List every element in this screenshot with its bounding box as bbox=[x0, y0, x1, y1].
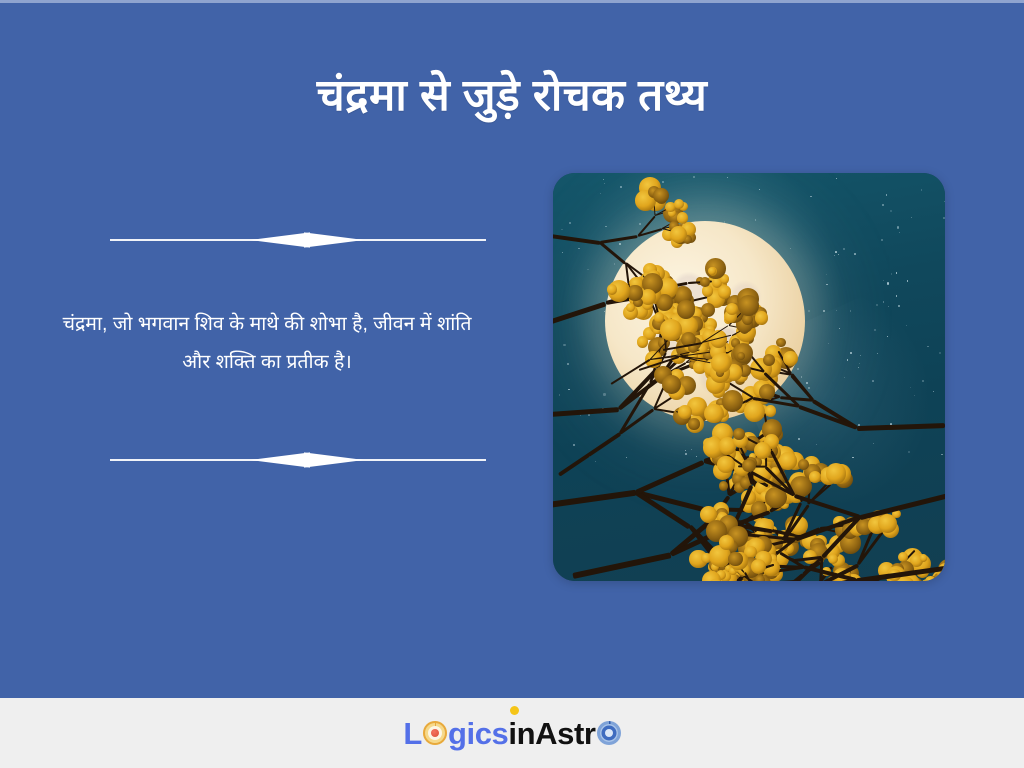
star-dot bbox=[603, 179, 604, 180]
star-dot bbox=[801, 376, 802, 377]
star-dot bbox=[886, 194, 888, 196]
star-dot bbox=[826, 274, 827, 275]
star-dot bbox=[860, 355, 861, 356]
blossom bbox=[878, 514, 897, 533]
star-dot bbox=[600, 193, 601, 194]
brand-logo[interactable]: L gics in Astr bbox=[403, 718, 620, 749]
blossom bbox=[826, 463, 846, 483]
zodiac-wheel-icon bbox=[597, 721, 621, 745]
divider-dot-icon bbox=[294, 235, 304, 245]
blossom bbox=[660, 319, 682, 341]
star-dot bbox=[883, 301, 885, 303]
blossom bbox=[711, 353, 731, 373]
star-dot bbox=[941, 454, 943, 456]
divider-dot-icon bbox=[294, 455, 304, 465]
blossom bbox=[776, 338, 785, 347]
star-dot bbox=[874, 329, 876, 331]
star-dot bbox=[850, 352, 852, 354]
star-dot bbox=[693, 176, 695, 178]
blossom bbox=[726, 303, 738, 315]
star-dot bbox=[881, 239, 883, 241]
body-text: चंद्रमा, जो भगवान शिव के माथे की शोभा है… bbox=[47, 305, 487, 381]
star-dot bbox=[933, 391, 934, 392]
star-dot bbox=[836, 310, 838, 312]
star-dot bbox=[639, 223, 641, 225]
star-dot bbox=[843, 248, 845, 250]
blossom bbox=[809, 471, 821, 483]
blossom bbox=[700, 277, 710, 287]
star-dot bbox=[888, 306, 889, 307]
blossom bbox=[783, 351, 798, 366]
star-dot bbox=[922, 380, 924, 382]
slide-canvas: चंद्रमा से जुड़े रोचक तथ्य चंद्रमा, जो भ… bbox=[0, 0, 1024, 768]
star-dot bbox=[911, 217, 913, 219]
star-dot bbox=[859, 363, 860, 364]
divider-top bbox=[110, 227, 486, 253]
star-dot bbox=[896, 272, 897, 273]
star-dot bbox=[826, 284, 827, 285]
star-dot bbox=[921, 189, 922, 190]
star-dot bbox=[897, 226, 899, 228]
star-dot bbox=[890, 210, 892, 212]
star-dot bbox=[555, 179, 556, 180]
blossom bbox=[719, 481, 728, 490]
star-dot bbox=[620, 186, 622, 188]
star-dot bbox=[835, 251, 837, 253]
star-dot bbox=[563, 344, 565, 346]
divider-wing-right-icon bbox=[304, 450, 364, 470]
moon-photo bbox=[553, 173, 945, 581]
star-dot bbox=[696, 456, 697, 457]
blossom bbox=[755, 575, 765, 581]
blossom bbox=[688, 418, 699, 429]
star-dot bbox=[834, 255, 835, 256]
star-dot bbox=[910, 387, 911, 388]
star-dot bbox=[605, 226, 607, 228]
blossom bbox=[828, 554, 838, 564]
star-dot bbox=[662, 181, 664, 183]
blossom bbox=[702, 285, 713, 296]
logo-text-l: L bbox=[403, 718, 422, 749]
star-dot bbox=[755, 219, 756, 220]
star-dot bbox=[588, 414, 590, 416]
star-dot bbox=[727, 177, 728, 178]
star-dot bbox=[568, 389, 569, 390]
divider-wing-right-icon bbox=[304, 230, 364, 250]
star-dot bbox=[619, 243, 621, 245]
star-dot bbox=[823, 310, 825, 312]
star-dot bbox=[797, 368, 799, 370]
star-dot bbox=[567, 363, 569, 365]
blossom bbox=[662, 375, 681, 394]
star-dot bbox=[798, 438, 800, 440]
star-dot bbox=[898, 305, 900, 307]
star-dot bbox=[877, 353, 878, 354]
logo-astro: Astr bbox=[535, 718, 620, 749]
star-dot bbox=[887, 336, 888, 337]
blossom bbox=[677, 300, 695, 318]
blossom bbox=[779, 452, 796, 469]
divider-bottom bbox=[110, 447, 486, 473]
star-dot bbox=[873, 443, 874, 444]
blossom bbox=[653, 188, 668, 203]
star-dot bbox=[810, 196, 811, 197]
star-dot bbox=[604, 183, 605, 184]
star-dot bbox=[899, 232, 901, 234]
i-dot-icon bbox=[510, 706, 519, 715]
star-dot bbox=[883, 280, 884, 281]
left-content-column: चंद्रमा, जो भगवान शिव के माथे की शोभा है… bbox=[47, 163, 487, 543]
star-dot bbox=[562, 252, 563, 253]
star-dot bbox=[927, 346, 929, 348]
blossom bbox=[719, 535, 734, 550]
star-dot bbox=[852, 457, 854, 459]
star-dot bbox=[858, 367, 859, 368]
star-dot bbox=[914, 395, 915, 396]
star-dot bbox=[839, 328, 841, 330]
star-dot bbox=[808, 387, 809, 388]
blossom bbox=[627, 285, 642, 300]
star-dot bbox=[808, 310, 810, 312]
star-dot bbox=[844, 377, 845, 378]
star-dot bbox=[887, 282, 889, 284]
star-dot bbox=[836, 178, 837, 179]
star-dot bbox=[561, 229, 562, 230]
blossom bbox=[670, 226, 687, 243]
star-dot bbox=[595, 461, 596, 462]
blossom bbox=[728, 552, 743, 567]
star-dot bbox=[907, 280, 908, 281]
star-dot bbox=[569, 222, 571, 224]
blossom bbox=[626, 303, 635, 312]
star-dot bbox=[939, 352, 941, 354]
logo-logics: L gics bbox=[403, 718, 508, 749]
sun-mandala-icon bbox=[423, 721, 447, 745]
star-dot bbox=[847, 359, 848, 360]
star-dot bbox=[559, 394, 561, 396]
star-dot bbox=[850, 310, 851, 311]
star-dot bbox=[614, 263, 615, 264]
star-dot bbox=[872, 380, 874, 382]
logo-text-astr: Astr bbox=[535, 718, 595, 749]
star-dot bbox=[906, 325, 907, 326]
star-dot bbox=[943, 217, 945, 219]
logo-text-gics: gics bbox=[448, 718, 508, 749]
blossom bbox=[722, 390, 743, 411]
star-dot bbox=[816, 444, 817, 445]
star-dot bbox=[882, 204, 884, 206]
star-dot bbox=[626, 457, 627, 458]
blossom bbox=[755, 311, 769, 325]
star-dot bbox=[838, 254, 839, 255]
logo-in: in bbox=[508, 718, 535, 749]
logo-text-in: in bbox=[508, 718, 535, 749]
star-dot bbox=[876, 304, 878, 306]
star-dot bbox=[691, 449, 693, 451]
blossom bbox=[704, 404, 724, 424]
footer-bar: L gics in Astr bbox=[0, 698, 1024, 768]
star-dot bbox=[896, 295, 897, 296]
blossom bbox=[744, 401, 765, 422]
star-dot bbox=[944, 201, 945, 202]
star-dot bbox=[759, 189, 760, 190]
page-title: चंद्रमा से जुड़े रोचक तथ्य bbox=[0, 67, 1024, 124]
star-dot bbox=[891, 273, 892, 274]
star-dot bbox=[790, 248, 792, 250]
blossom bbox=[742, 459, 755, 472]
slide-stage: चंद्रमा से जुड़े रोचक तथ्य चंद्रमा, जो भ… bbox=[0, 3, 1024, 698]
blossom bbox=[678, 405, 692, 419]
star-dot bbox=[806, 382, 808, 384]
blossom bbox=[754, 442, 771, 459]
star-dot bbox=[580, 415, 581, 416]
star-dot bbox=[603, 393, 605, 395]
star-dot bbox=[685, 453, 687, 455]
star-dot bbox=[854, 253, 856, 255]
star-dot bbox=[578, 248, 580, 250]
star-dot bbox=[828, 343, 829, 344]
star-dot bbox=[573, 444, 575, 446]
blossom bbox=[765, 405, 777, 417]
star-dot bbox=[587, 269, 588, 270]
star-dot bbox=[685, 450, 686, 451]
blossom bbox=[654, 312, 665, 323]
blossom bbox=[738, 295, 759, 316]
star-dot bbox=[908, 451, 910, 453]
